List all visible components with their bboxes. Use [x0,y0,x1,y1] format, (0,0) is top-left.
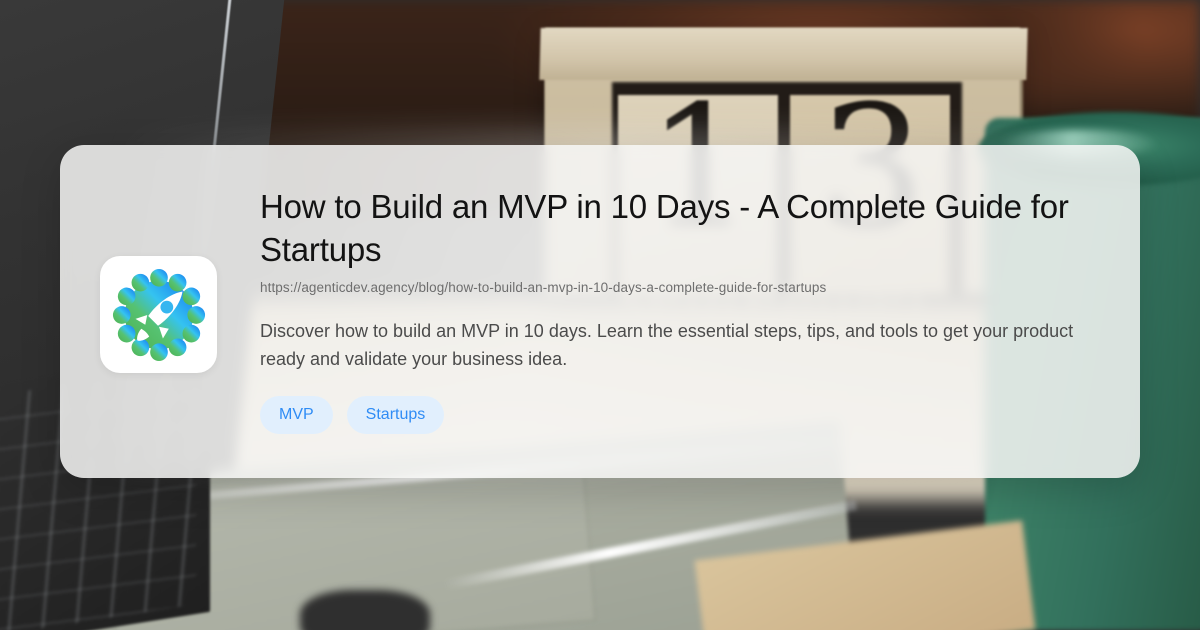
tag-mvp[interactable]: MVP [260,396,333,434]
desk-object-shadow [300,590,430,630]
card-text-column: How to Build an MVP in 10 Days - A Compl… [260,185,1094,434]
card-tag-list: MVP Startups [260,396,1094,434]
link-preview-card[interactable]: How to Build an MVP in 10 Days - A Compl… [60,145,1140,478]
card-title: How to Build an MVP in 10 Days - A Compl… [260,185,1094,271]
card-url[interactable]: https://agenticdev.agency/blog/how-to-bu… [260,279,1094,297]
tag-startups[interactable]: Startups [347,396,445,434]
site-logo-container [100,256,217,373]
gear-rocket-logo-icon [110,266,208,364]
calendar-box-lid [539,28,1027,80]
card-description: Discover how to build an MVP in 10 days.… [260,317,1094,373]
